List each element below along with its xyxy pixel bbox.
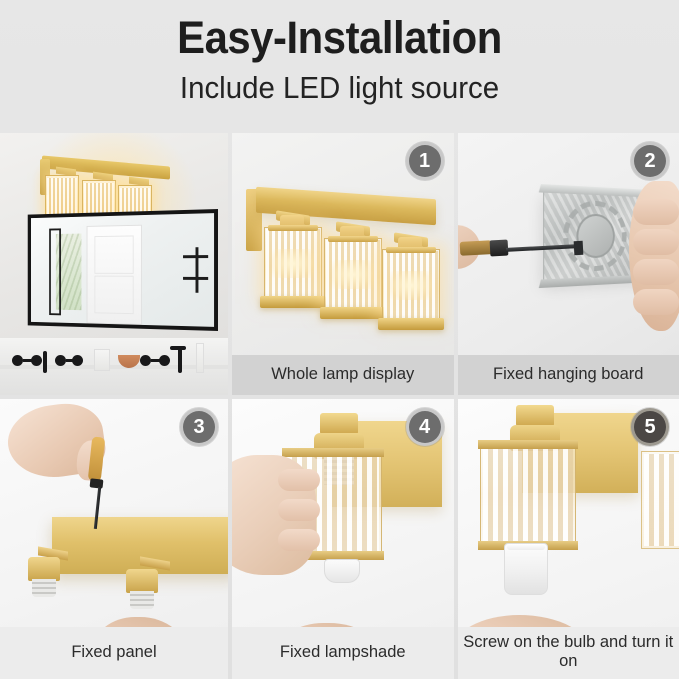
panel-screw-bulb: 5 Screw on the bulb and turn it on <box>458 399 679 679</box>
crystal-shade <box>45 175 79 217</box>
brush-holder <box>94 349 110 371</box>
led-bulb <box>324 559 360 583</box>
faucet-handle <box>31 355 42 366</box>
shade-glass <box>264 227 322 299</box>
holding-hand <box>232 455 316 575</box>
panel-fixed-lampshade: 4 Fixed lampshade <box>232 399 454 679</box>
panel-caption-fixed-lampshade: Fixed lampshade <box>232 627 454 679</box>
socket-top <box>516 405 554 427</box>
hero-vanity-photo <box>0 133 228 395</box>
panel-caption-whole-lamp: Whole lamp display <box>232 355 454 395</box>
shade-top-rim <box>282 448 384 457</box>
faucet-body <box>43 351 47 373</box>
finger <box>633 229 679 255</box>
panel-caption-screw-bulb: Screw on the bulb and turn it on <box>458 627 679 679</box>
shade-top-rim <box>478 440 578 449</box>
crystal-shade <box>382 249 440 321</box>
faucet-handle <box>72 355 83 366</box>
mirror-reflection-post <box>196 247 199 293</box>
step-badge-2: 2 <box>631 142 669 180</box>
mirror-reflection-door <box>87 225 142 325</box>
shade-top-ring <box>328 236 378 242</box>
shade-top-ring <box>268 225 318 231</box>
shade-glass <box>382 249 440 321</box>
lamp-socket <box>28 557 60 581</box>
panel-whole-lamp: 1 Whole lamp display <box>232 133 454 395</box>
socket-thread <box>32 579 56 597</box>
shade-glass <box>324 238 382 310</box>
panel-hanging-board: 2 Fixed hanging board <box>458 133 679 395</box>
mirror-reflection-frame <box>49 228 61 315</box>
finger <box>633 259 679 285</box>
finger <box>633 289 679 315</box>
page-subtitle: Include LED light source <box>17 71 662 105</box>
step-badge-5: 5 <box>631 408 669 446</box>
led-bulb <box>504 543 548 595</box>
step-badge-4: 4 <box>406 408 444 446</box>
mirror-reflection-shelf <box>183 255 208 258</box>
installation-steps-grid: 1 Whole lamp display 2 Fixed hang <box>0 133 679 679</box>
panel-fixed-panel: 3 Fixed panel <box>0 399 228 679</box>
mirror-reflection-shelf <box>183 277 208 280</box>
faucet-body <box>178 347 182 373</box>
finger <box>278 499 320 521</box>
adjacent-crystal-shade <box>641 451 679 549</box>
step-badge-3: 3 <box>180 408 218 446</box>
shade-base-ring <box>378 318 444 330</box>
finger <box>278 469 320 491</box>
metal-mounting-bracket <box>543 190 643 281</box>
panel-hero-vanity <box>0 133 228 395</box>
shade-top-ring <box>386 247 436 253</box>
screwdriver-tip <box>573 241 583 255</box>
shade-base-ring <box>260 296 326 308</box>
faucet-handle <box>12 355 23 366</box>
socket-top <box>320 413 358 435</box>
right-hand <box>629 181 679 331</box>
bathroom-mirror <box>28 209 218 331</box>
bracket-top-lip <box>538 184 646 197</box>
crystal-lampshade <box>480 443 576 547</box>
panel-caption-hanging-board: Fixed hanging board <box>458 355 679 395</box>
faucet-handle <box>55 355 66 366</box>
screwdriver-handle <box>459 240 492 256</box>
shade-base-ring <box>320 307 386 319</box>
header: Easy-Installation Include LED light sour… <box>0 0 679 105</box>
faucet-handle <box>159 355 170 366</box>
crystal-shade <box>264 227 322 299</box>
step-badge-1: 1 <box>406 142 444 180</box>
page-title: Easy-Installation <box>24 14 655 63</box>
crystal-shade <box>324 238 382 310</box>
panel-caption-fixed-panel: Fixed panel <box>0 627 228 679</box>
finger <box>278 529 320 551</box>
screwdriver-ferrule <box>90 478 104 488</box>
faucet-handle <box>140 355 151 366</box>
finger <box>633 199 679 225</box>
lamp-socket <box>126 569 158 593</box>
socket-thread <box>130 591 154 609</box>
faucet-arc <box>170 346 186 350</box>
soap-dispenser <box>196 343 204 373</box>
lamp-assembly <box>232 167 454 347</box>
